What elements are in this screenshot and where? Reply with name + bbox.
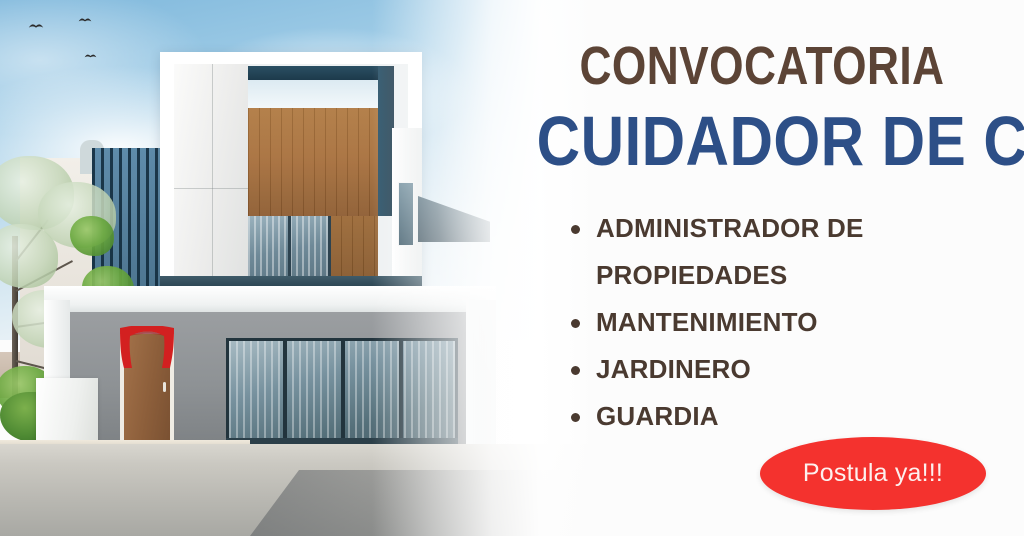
list-item: ADMINISTRADOR DE PROPIEDADES [562,205,982,299]
job-role-label: ADMINISTRADOR DE PROPIEDADES [596,213,864,290]
eyebrow-heading: CONVOCATORIA [547,38,977,94]
bullet-icon [571,225,580,234]
advert-text-panel: CONVOCATORIA CUIDADOR DE CASA ADMINISTRA… [500,0,1024,536]
apply-now-label: Postula ya!!! [803,459,943,488]
bullet-icon [571,319,580,328]
page-title: CUIDADOR DE CASA [537,104,988,178]
list-item: JARDINERO [562,346,982,393]
job-advert-banner: CONVOCATORIA CUIDADOR DE CASA ADMINISTRA… [0,0,1024,536]
bullet-icon [571,413,580,422]
list-item: MANTENIMIENTO [562,299,982,346]
job-role-label: GUARDIA [596,401,719,431]
job-role-label: MANTENIMIENTO [596,307,818,337]
apply-now-button[interactable]: Postula ya!!! [760,437,986,510]
bullet-icon [571,366,580,375]
job-role-list: ADMINISTRADOR DE PROPIEDADES MANTENIMIEN… [562,205,982,440]
job-role-label: JARDINERO [596,354,751,384]
list-item: GUARDIA [562,393,982,440]
